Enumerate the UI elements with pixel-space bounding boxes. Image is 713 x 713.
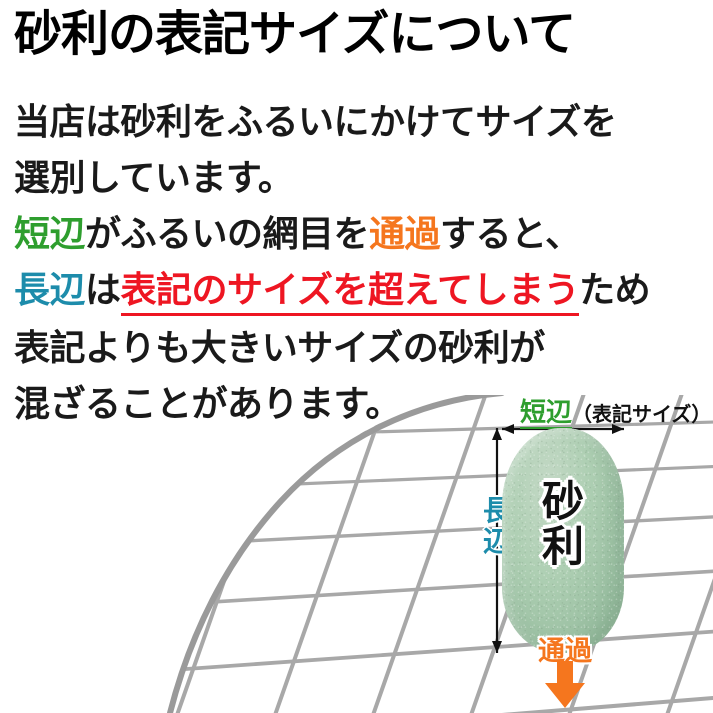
page-title: 砂利の表記サイズについて: [14, 8, 704, 62]
mesh-lines: [150, 395, 713, 713]
body-line-4-text-a: は: [85, 269, 121, 310]
body-line-3-text-a: がふるいの網目を: [85, 213, 369, 254]
body-line-4-text-b: ため: [579, 269, 650, 310]
gravel-stone-label-char2: 利: [520, 524, 606, 569]
short-side-label: 短辺（表記サイズ）: [520, 392, 711, 429]
short-side-term: 短辺: [14, 213, 85, 254]
pass-through-arrow-icon: [543, 661, 587, 709]
gravel-stone-label: 砂利: [520, 479, 606, 570]
body-line-2: 選別しています。: [14, 160, 293, 196]
oversize-warning-text: 表記のサイズを超えてしまう: [121, 269, 580, 316]
pass-term: 通過: [369, 213, 440, 254]
body-line-1: 当店は砂利をふるいにかけてサイズを: [14, 104, 616, 140]
body-line-5: 表記よりも大きいサイズの砂利が: [14, 330, 545, 366]
body-line-3: 短辺がふるいの網目を通過すると、: [14, 216, 581, 252]
short-side-label-note: （表記サイズ）: [572, 404, 711, 426]
body-line-3-text-b: すると、: [440, 213, 581, 254]
short-side-label-keyword: 短辺: [520, 397, 572, 429]
sieve-mesh-graphic: [150, 395, 713, 713]
long-side-term: 長辺: [14, 269, 85, 310]
sieve-diagram: 短辺（表記サイズ） 長辺 砂利 通過: [150, 395, 713, 713]
body-line-4: 長辺は表記のサイズを超えてしまうため: [14, 272, 650, 308]
gravel-stone-label-char1: 砂: [520, 479, 606, 524]
infographic-page: 砂利の表記サイズについて 当店は砂利をふるいにかけてサイズを 選別しています。 …: [0, 0, 713, 713]
